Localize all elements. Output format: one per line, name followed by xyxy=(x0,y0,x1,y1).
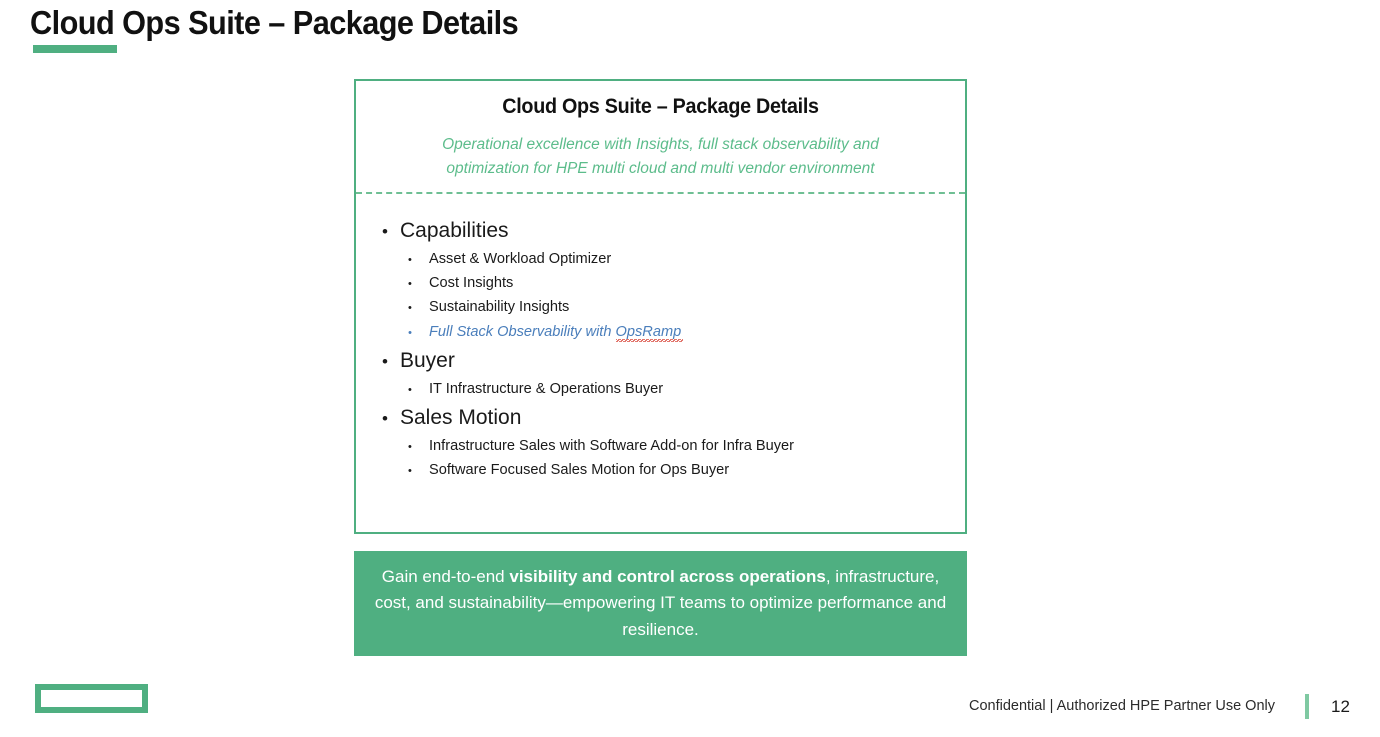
page-title: Cloud Ops Suite – Package Details xyxy=(30,4,518,42)
bullet-heading-capabilities: • Capabilities xyxy=(382,216,965,246)
title-accent-rule xyxy=(33,45,117,53)
value-statement-banner: Gain end-to-end visibility and control a… xyxy=(354,551,967,656)
bullet-dot-icon: • xyxy=(408,303,429,314)
bullet-dot-icon: • xyxy=(408,466,429,477)
sub-bullet-list: • Asset & Workload Optimizer • Cost Insi… xyxy=(382,247,965,344)
bullet-heading-label: Capabilities xyxy=(400,216,509,246)
list-item: • IT Infrastructure & Operations Buyer xyxy=(382,377,965,401)
bullet-dot-icon: • xyxy=(382,410,400,427)
package-details-card: Cloud Ops Suite – Package Details Operat… xyxy=(354,79,967,534)
bullet-heading-buyer: • Buyer xyxy=(382,346,965,376)
bullet-dot-icon: • xyxy=(408,328,429,339)
card-title: Cloud Ops Suite – Package Details xyxy=(374,95,946,119)
list-item: • Cost Insights xyxy=(382,271,965,295)
bullet-group: • Buyer • IT Infrastructure & Operations… xyxy=(382,346,965,401)
list-item-label: Software Focused Sales Motion for Ops Bu… xyxy=(429,458,729,482)
card-subtitle: Operational excellence with Insights, fu… xyxy=(401,133,921,180)
bullet-group: • Sales Motion • Infrastructure Sales wi… xyxy=(382,403,965,482)
list-item-opsramp-link[interactable]: • Full Stack Observability with OpsRamp xyxy=(382,320,965,344)
card-content: • Capabilities • Asset & Workload Optimi… xyxy=(356,194,965,482)
list-item: • Software Focused Sales Motion for Ops … xyxy=(382,458,965,482)
list-item-text: Full Stack Observability with xyxy=(429,324,616,340)
list-item-label: Cost Insights xyxy=(429,271,513,295)
bullet-dot-icon: • xyxy=(408,279,429,290)
bullet-dot-icon: • xyxy=(408,385,429,396)
list-item-label: Infrastructure Sales with Software Add-o… xyxy=(429,434,794,458)
sub-bullet-list: • Infrastructure Sales with Software Add… xyxy=(382,434,965,482)
confidentiality-notice: Confidential | Authorized HPE Partner Us… xyxy=(969,698,1275,714)
hpe-logo-icon xyxy=(35,684,148,713)
sub-bullet-list: • IT Infrastructure & Operations Buyer xyxy=(382,377,965,401)
list-item: • Sustainability Insights xyxy=(382,295,965,319)
list-item-label: Asset & Workload Optimizer xyxy=(429,247,611,271)
list-item-label: Full Stack Observability with OpsRamp xyxy=(429,320,681,344)
misspelled-word: OpsRamp xyxy=(616,324,682,341)
bullet-heading-label: Buyer xyxy=(400,346,455,376)
footer-separator xyxy=(1305,694,1309,719)
bullet-dot-icon: • xyxy=(382,353,400,370)
list-item: • Asset & Workload Optimizer xyxy=(382,247,965,271)
bullet-dot-icon: • xyxy=(382,223,400,240)
bullet-group: • Capabilities • Asset & Workload Optimi… xyxy=(382,216,965,344)
list-item: • Infrastructure Sales with Software Add… xyxy=(382,434,965,458)
page-number: 12 xyxy=(1331,697,1350,717)
bullet-dot-icon: • xyxy=(408,442,429,453)
banner-text: Gain end-to-end visibility and control a… xyxy=(354,564,967,643)
list-item-label: IT Infrastructure & Operations Buyer xyxy=(429,377,663,401)
bullet-heading-label: Sales Motion xyxy=(400,403,521,433)
list-item-label: Sustainability Insights xyxy=(429,295,569,319)
bullet-dot-icon: • xyxy=(408,255,429,266)
bullet-heading-sales-motion: • Sales Motion xyxy=(382,403,965,433)
banner-lead: Gain end-to-end xyxy=(382,567,510,586)
banner-emphasis: visibility and control across operations xyxy=(509,567,825,586)
